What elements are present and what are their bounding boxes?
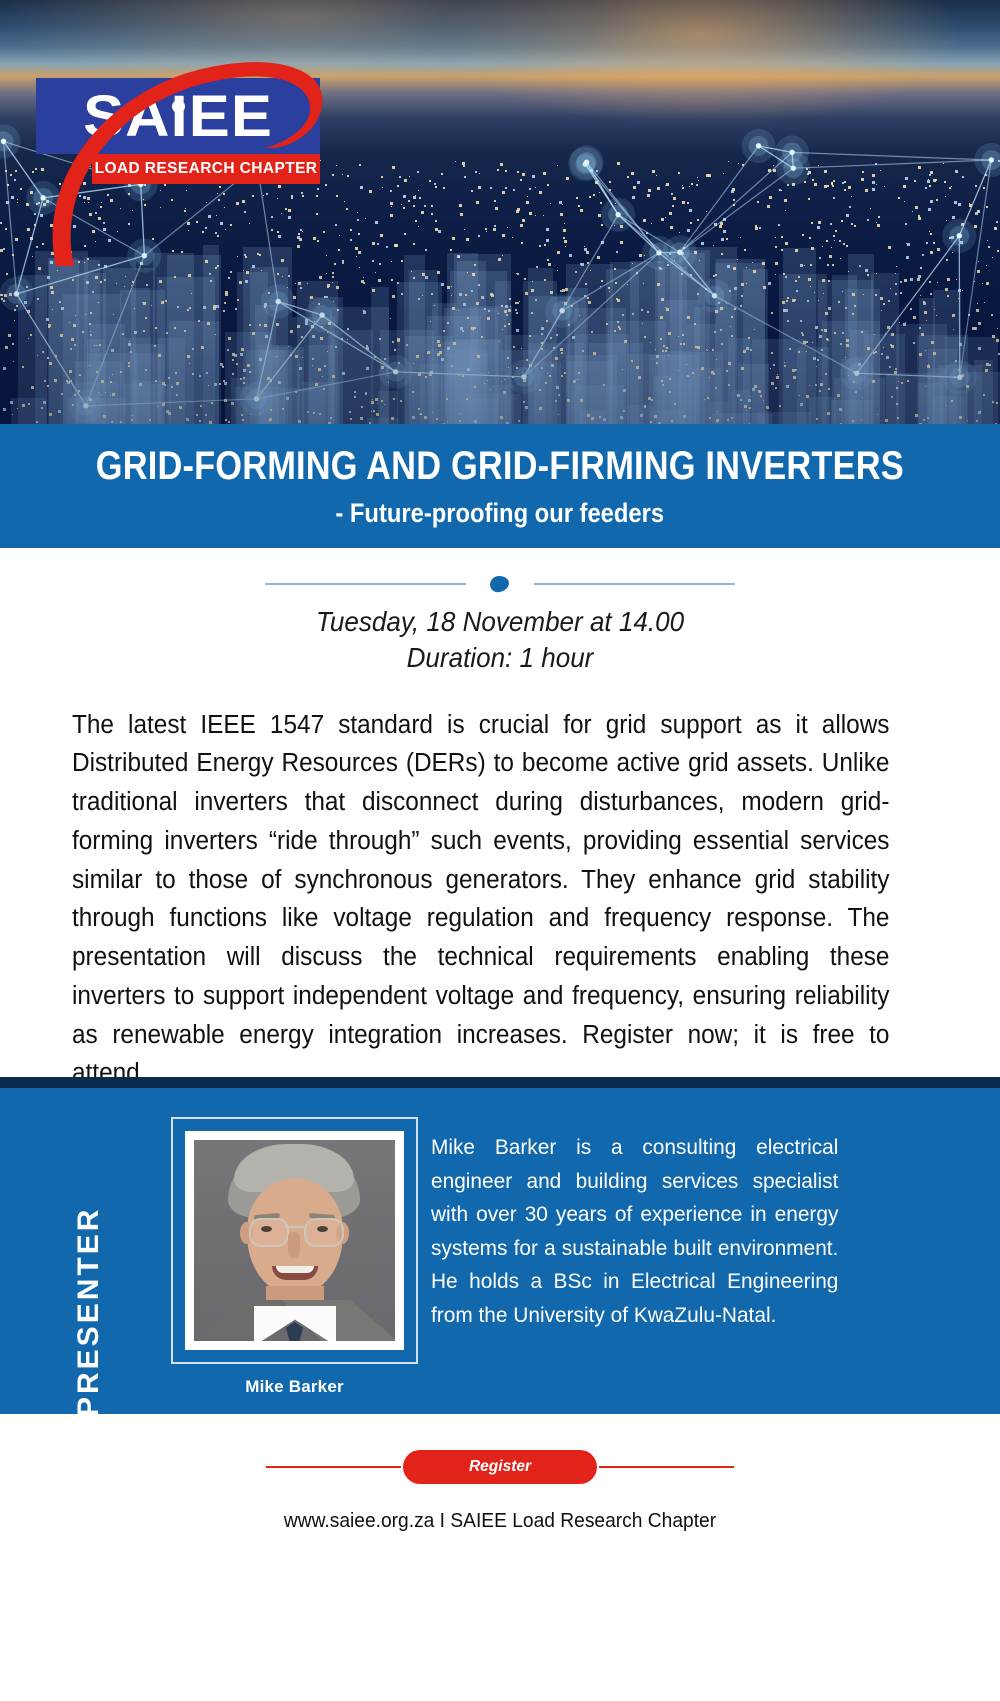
event-datetime: Tuesday, 18 November at 14.00 Duration: …: [35, 604, 965, 676]
footer: Register www.saiee.org.za I SAIEE Load R…: [0, 1414, 1000, 1701]
register-line-right: [599, 1466, 734, 1468]
presenter-name: Mike Barker: [171, 1377, 418, 1397]
presenter-photo-mat: [185, 1131, 404, 1350]
flyer-page: SAIEE LOAD RESEARCH CHAPTER GRID-FORMING…: [0, 0, 1000, 1701]
logo-chapter-bar: LOAD RESEARCH CHAPTER: [92, 154, 320, 184]
register-row: Register: [0, 1450, 1000, 1484]
details-section: Tuesday, 18 November at 14.00 Duration: …: [0, 548, 1000, 1093]
presenter-bio: Mike Barker is a consulting electrical e…: [431, 1131, 838, 1332]
divider-line-right: [534, 583, 735, 585]
presenter-section-label: PRESENTER: [72, 1181, 106, 1417]
presenter-top-strip: [0, 1077, 1000, 1088]
saiee-logo[interactable]: SAIEE LOAD RESEARCH CHAPTER: [36, 78, 320, 190]
divider-gem-icon: [488, 574, 512, 594]
presenter-photo-frame: [171, 1117, 418, 1364]
register-line-left: [266, 1466, 401, 1468]
event-duration-line: Duration: 1 hour: [35, 640, 965, 676]
ornamental-divider: [265, 574, 735, 594]
hero-vignette: [0, 0, 1000, 424]
title-band: GRID-FORMING AND GRID-FIRMING INVERTERS …: [0, 424, 1000, 548]
page-title: GRID-FORMING AND GRID-FIRMING INVERTERS: [96, 446, 904, 486]
page-subtitle: - Future-proofing our feeders: [336, 500, 665, 527]
divider-line-left: [265, 583, 466, 585]
abstract-paragraph: The latest IEEE 1547 standard is crucial…: [72, 706, 889, 1094]
footer-site-line: www.saiee.org.za I SAIEE Load Research C…: [20, 1510, 980, 1533]
event-date-line: Tuesday, 18 November at 14.00: [316, 606, 684, 637]
logo-dot-icon: [172, 100, 185, 113]
hero-banner: SAIEE LOAD RESEARCH CHAPTER: [0, 0, 1000, 424]
logo-wordmark: SAIEE: [27, 78, 328, 154]
avatar: [194, 1140, 395, 1341]
register-button[interactable]: Register: [403, 1450, 597, 1484]
